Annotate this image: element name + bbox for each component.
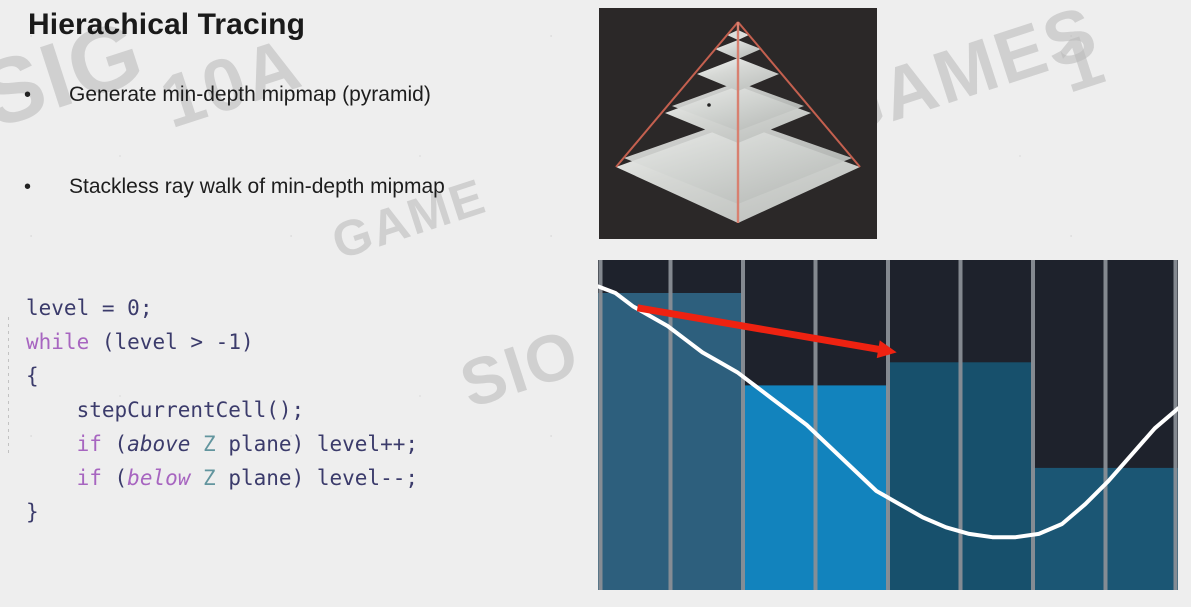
chart-bar	[743, 385, 816, 590]
code-token: plane	[216, 432, 292, 456]
bullet-text: Stackless ray walk of min-depth mipmap	[42, 174, 445, 200]
code-token: (	[102, 466, 127, 490]
code-token	[190, 432, 203, 456]
code-token: stepCurrentCell	[26, 398, 266, 422]
bullet-list: • Generate min-depth mipmap (pyramid) • …	[24, 82, 584, 266]
chart-bar	[961, 362, 1034, 590]
watermark-text-5: 1	[1048, 15, 1115, 109]
bullet-marker: •	[24, 82, 42, 108]
code-token: if	[77, 432, 102, 456]
list-item: • Generate min-depth mipmap (pyramid)	[24, 82, 584, 108]
code-line: if (above Z plane) level++;	[26, 427, 418, 461]
code-token: 0	[127, 296, 140, 320]
code-token: level	[26, 296, 89, 320]
list-item: • Stackless ray walk of min-depth mipmap	[24, 174, 584, 200]
pyramid-illustration	[599, 8, 877, 239]
code-token: level	[317, 466, 380, 490]
code-token: ;	[140, 296, 153, 320]
mipmap-pyramid-image	[599, 8, 877, 239]
pyramid-sample-dot	[707, 103, 711, 107]
code-line: if (below Z plane) level--;	[26, 461, 418, 495]
code-token: while	[26, 330, 89, 354]
code-token: =	[89, 296, 127, 320]
code-line: }	[26, 495, 418, 529]
code-line: level = 0;	[26, 291, 418, 325]
code-token: (	[102, 432, 127, 456]
code-token	[26, 466, 77, 490]
slide-left-column: Hierachical Tracing • Generate min-depth…	[0, 0, 600, 607]
code-token: ++;	[380, 432, 418, 456]
code-token: -1	[216, 330, 241, 354]
hi-z-trace-chart	[598, 260, 1178, 590]
code-line: {	[26, 359, 418, 393]
code-line: while (level > -1)	[26, 325, 418, 359]
code-token: plane	[216, 466, 292, 490]
code-token: )	[292, 432, 317, 456]
code-token: }	[26, 500, 39, 524]
code-token: below	[127, 466, 190, 490]
code-token: ();	[266, 398, 304, 422]
code-token	[26, 432, 77, 456]
code-token: above	[127, 432, 190, 456]
code-token: {	[26, 364, 39, 388]
chart-bar	[816, 385, 889, 590]
code-token: level	[115, 330, 178, 354]
code-token: if	[77, 466, 102, 490]
chart-bar	[598, 293, 671, 590]
code-token: )	[292, 466, 317, 490]
chart-bar	[1033, 468, 1106, 590]
page-title: Hierachical Tracing	[28, 8, 305, 42]
code-token	[190, 466, 203, 490]
chart-bar	[888, 362, 961, 590]
code-token: )	[241, 330, 254, 354]
code-line: stepCurrentCell();	[26, 393, 418, 427]
code-token: (	[89, 330, 114, 354]
code-token: Z	[203, 466, 216, 490]
code-token: Z	[203, 432, 216, 456]
code-token: >	[178, 330, 216, 354]
bullet-marker: •	[24, 174, 42, 200]
code-indent-guide	[8, 317, 9, 457]
chart-canvas	[598, 260, 1178, 590]
code-snippet: level = 0;while (level > -1){ stepCurren…	[26, 291, 418, 529]
chart-bar	[1106, 468, 1179, 590]
bullet-text: Generate min-depth mipmap (pyramid)	[42, 82, 431, 108]
code-token: --;	[380, 466, 418, 490]
code-token: level	[317, 432, 380, 456]
